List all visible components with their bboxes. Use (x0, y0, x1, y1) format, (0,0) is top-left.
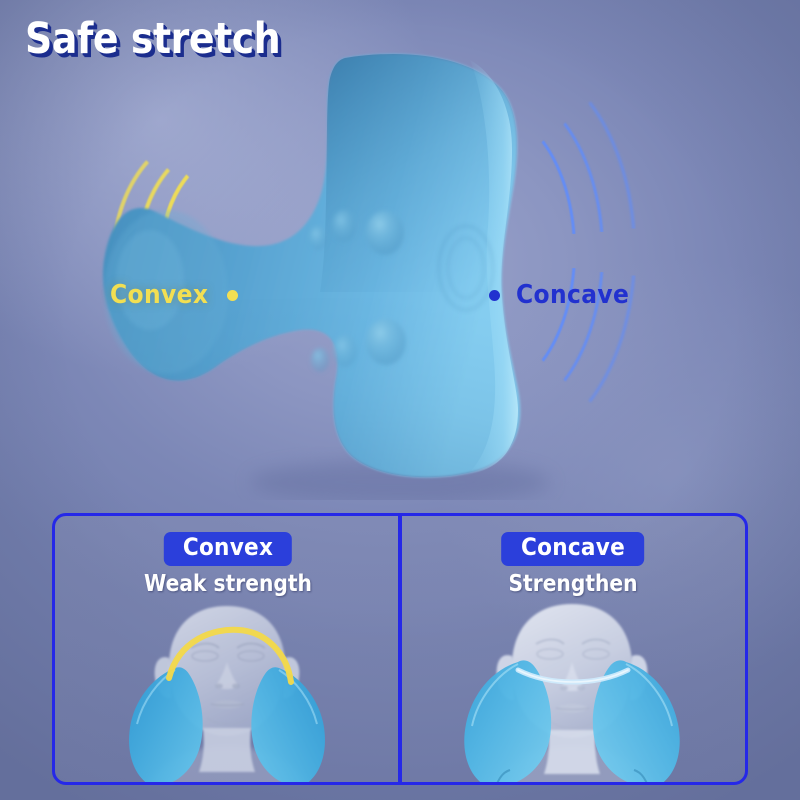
caption-strengthen-label: Strengthen (508, 571, 637, 597)
dot-marker-yellow (227, 290, 238, 301)
compare-panel: Convex Weak strength (52, 513, 748, 785)
caption-strengthen: Strengthen (499, 571, 646, 597)
caption-weak-strength: Weak strength (132, 571, 323, 597)
hero-section: Convex Concave (0, 30, 800, 500)
concave-label: Concave (516, 280, 629, 310)
badge-concave-label: Concave (520, 534, 624, 562)
compare-cell-convex: Convex Weak strength (55, 516, 400, 782)
caption-weak-strength-label: Weak strength (144, 571, 312, 597)
badge-convex-label: Convex (182, 534, 272, 562)
badge-concave: Concave (501, 532, 645, 566)
dot-marker-blue (489, 290, 500, 301)
neck-stretcher-pillow-icon (0, 30, 800, 500)
mannequin-head-convex-icon (55, 600, 400, 785)
convex-label: Convex (110, 280, 208, 310)
badge-convex: Convex (163, 532, 291, 566)
compare-cell-concave: Concave Strengthen (400, 516, 745, 782)
product-infographic: Safe stretch (0, 0, 800, 800)
mannequin-head-concave-icon (400, 600, 745, 785)
